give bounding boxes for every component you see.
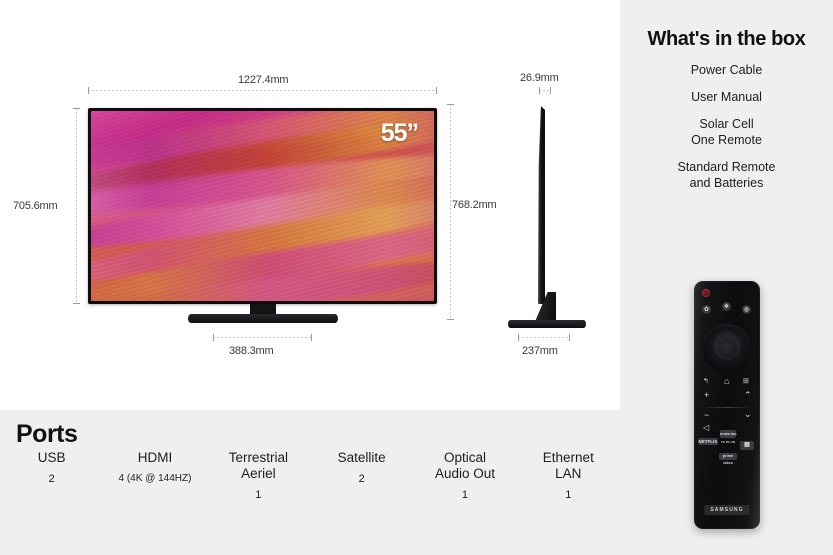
- port-value: 2: [0, 473, 103, 485]
- box-item: Standard Remote and Batteries: [620, 159, 833, 191]
- ports-row: USB 2 HDMI 4 (4K @ 144HZ) Terrestrial Ae…: [0, 450, 620, 520]
- side-stand-guide-line: [518, 337, 570, 338]
- remote-brand-label: SAMSUNG: [704, 505, 749, 515]
- front-width-guide-line: [88, 90, 437, 91]
- port-name: Terrestrial Aeriel: [207, 450, 310, 482]
- port-value: 1: [207, 489, 310, 501]
- side-height-guide-line: [450, 104, 451, 320]
- guide-cap: [447, 319, 454, 320]
- guide-cap: [518, 334, 519, 341]
- port-item: Optical Audio Out 1: [413, 450, 516, 501]
- guide-cap: [213, 334, 214, 341]
- tv-side-stand-base: [508, 320, 586, 328]
- back-icon: ↰: [703, 378, 709, 385]
- port-value: 1: [413, 489, 516, 501]
- port-name: USB: [0, 450, 103, 466]
- product-spec-sheet: 1227.4mm 705.6mm 388.3mm 55” 26.9mm 768.…: [0, 0, 833, 555]
- apps-icon: ▤: [740, 441, 754, 450]
- box-item: User Manual: [620, 89, 833, 105]
- screen-size-badge: 55”: [381, 119, 418, 148]
- source-icon: ❖: [722, 302, 731, 311]
- guide-cap: [88, 87, 89, 94]
- dim-side-depth: 26.9mm: [520, 72, 559, 84]
- box-item: Power Cable: [620, 62, 833, 78]
- port-item: Satellite 2: [310, 450, 413, 485]
- guide-icon: ⊞: [743, 378, 749, 385]
- directional-pad: [703, 324, 751, 372]
- port-item: USB 2: [0, 450, 103, 485]
- guide-cap: [550, 87, 551, 94]
- port-item: Ethernet LAN 1: [517, 450, 620, 501]
- box-item: Solar Cell One Remote: [620, 116, 833, 148]
- tv-side-panel: [538, 106, 545, 304]
- guide-cap: [436, 87, 437, 94]
- samsung-tv-plus-button: SAMSUNG TV PLUS: [720, 430, 736, 438]
- guide-cap: [311, 334, 312, 341]
- assistant-icon: ✿: [702, 305, 711, 314]
- tv-screen-artwork: 55”: [91, 111, 434, 301]
- dim-side-height: 768.2mm: [452, 199, 496, 211]
- dim-front-width: 1227.4mm: [238, 74, 288, 86]
- home-icon: ⌂: [724, 377, 729, 386]
- stand-width-guide-line: [213, 337, 312, 338]
- port-name: Ethernet LAN: [517, 450, 620, 482]
- dim-front-height: 705.6mm: [13, 200, 57, 212]
- mic-icon: ◍: [742, 305, 751, 314]
- channel-up-icon: ⌃: [744, 391, 752, 400]
- samsung-remote-image: ✿ ❖ ◍ ↰ ⌂ ⊞ + ⌃ − ⌄ ◁ NETFLIX SAMSUNG TV…: [694, 281, 760, 529]
- ports-heading: Ports: [16, 420, 77, 449]
- tv-stand-base: [188, 314, 338, 323]
- guide-cap: [569, 334, 570, 341]
- dim-side-stand-depth: 237mm: [522, 345, 558, 357]
- front-height-guide-line: [76, 108, 77, 304]
- port-value: 4 (4K @ 144HZ): [103, 473, 206, 484]
- netflix-button: NETFLIX: [698, 438, 718, 445]
- volume-up-icon: +: [704, 391, 709, 400]
- port-name: Satellite: [310, 450, 413, 466]
- port-name: HDMI: [103, 450, 206, 466]
- remote-divider: [702, 407, 752, 408]
- guide-cap: [539, 87, 540, 94]
- port-value: 1: [517, 489, 620, 501]
- tv-side-view: [500, 106, 595, 330]
- guide-cap: [447, 104, 454, 105]
- port-value: 2: [310, 473, 413, 485]
- whats-in-the-box-list: Power Cable User Manual Solar Cell One R…: [620, 62, 833, 202]
- mute-icon: ◁: [703, 424, 709, 432]
- prime-video-button: prime video: [719, 453, 737, 460]
- power-icon: [702, 289, 710, 297]
- port-item: Terrestrial Aeriel 1: [207, 450, 310, 501]
- tv-front-view: 55”: [88, 108, 437, 304]
- port-item: HDMI 4 (4K @ 144HZ): [103, 450, 206, 484]
- port-name: Optical Audio Out: [413, 450, 516, 482]
- guide-cap: [73, 303, 80, 304]
- whats-in-the-box-heading: What's in the box: [620, 28, 833, 51]
- volume-down-icon: −: [704, 411, 709, 420]
- channel-down-icon: ⌄: [744, 410, 752, 419]
- guide-cap: [73, 108, 80, 109]
- dim-stand-width: 388.3mm: [229, 345, 273, 357]
